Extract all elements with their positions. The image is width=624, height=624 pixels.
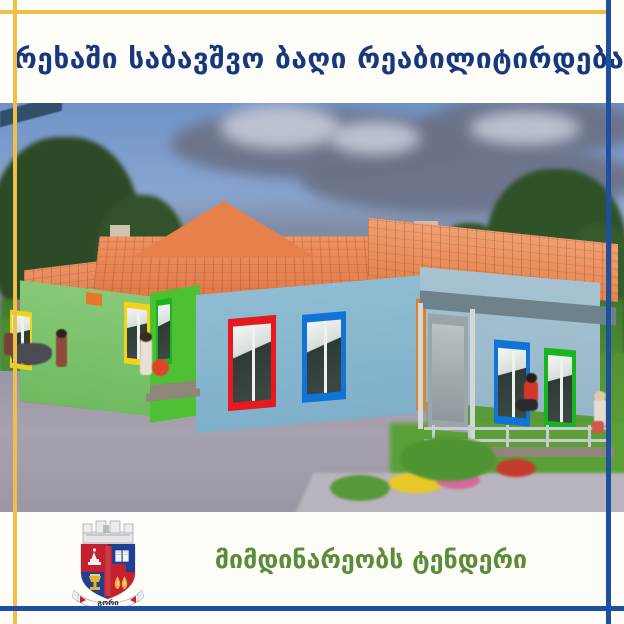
cloud-light <box>220 105 340 149</box>
flowerbed-green <box>400 437 496 481</box>
cloud-light <box>330 121 420 155</box>
person-bench-dark <box>516 399 538 411</box>
entry-door <box>428 313 468 432</box>
shrub <box>330 475 390 501</box>
tender-status-text: მიმდინარეობს ტენდერი <box>97 545 527 574</box>
person-child-head <box>140 332 152 342</box>
frame-line-gold-horizontal <box>0 10 608 14</box>
poster-canvas: რეხაში საბავშვო ბაღი რეაბილიტირდება <box>0 0 624 624</box>
person-adult <box>56 335 67 367</box>
railing-post <box>546 425 549 449</box>
footer-caption: მიმდინარეობს ტენდერი <box>0 512 624 606</box>
red-ball <box>152 359 169 376</box>
railing-post <box>506 425 509 449</box>
window-green <box>156 298 172 366</box>
building-photo <box>0 103 624 512</box>
person-adult-head <box>56 329 67 338</box>
frame-line-blue-horizontal <box>0 606 624 611</box>
roof-ridge <box>132 201 316 257</box>
frame-line-gold-vertical <box>13 0 17 624</box>
person-bench-child-head <box>526 373 537 383</box>
window-blue <box>302 311 346 403</box>
page-title: რეხაში საბავშვო ბაღი რეაბილიტირდება <box>0 42 624 75</box>
header-band: რეხაში საბავშვო ბაღი რეაბილიტირდება <box>0 14 624 103</box>
window-green-right <box>544 348 576 431</box>
frame-line-blue-vertical <box>606 0 611 624</box>
ramp-railing <box>424 427 610 430</box>
bottom-margin <box>0 611 624 624</box>
person-walking-head <box>594 391 606 401</box>
window-red <box>228 315 276 411</box>
railing-post <box>588 425 591 449</box>
cloud-light <box>470 111 580 145</box>
flowerbed-red <box>496 459 536 477</box>
person-walking-accent <box>592 421 604 433</box>
porch-column <box>418 303 423 429</box>
person-child <box>140 339 152 375</box>
window-orange-small <box>86 292 102 306</box>
porch-column <box>470 309 475 439</box>
